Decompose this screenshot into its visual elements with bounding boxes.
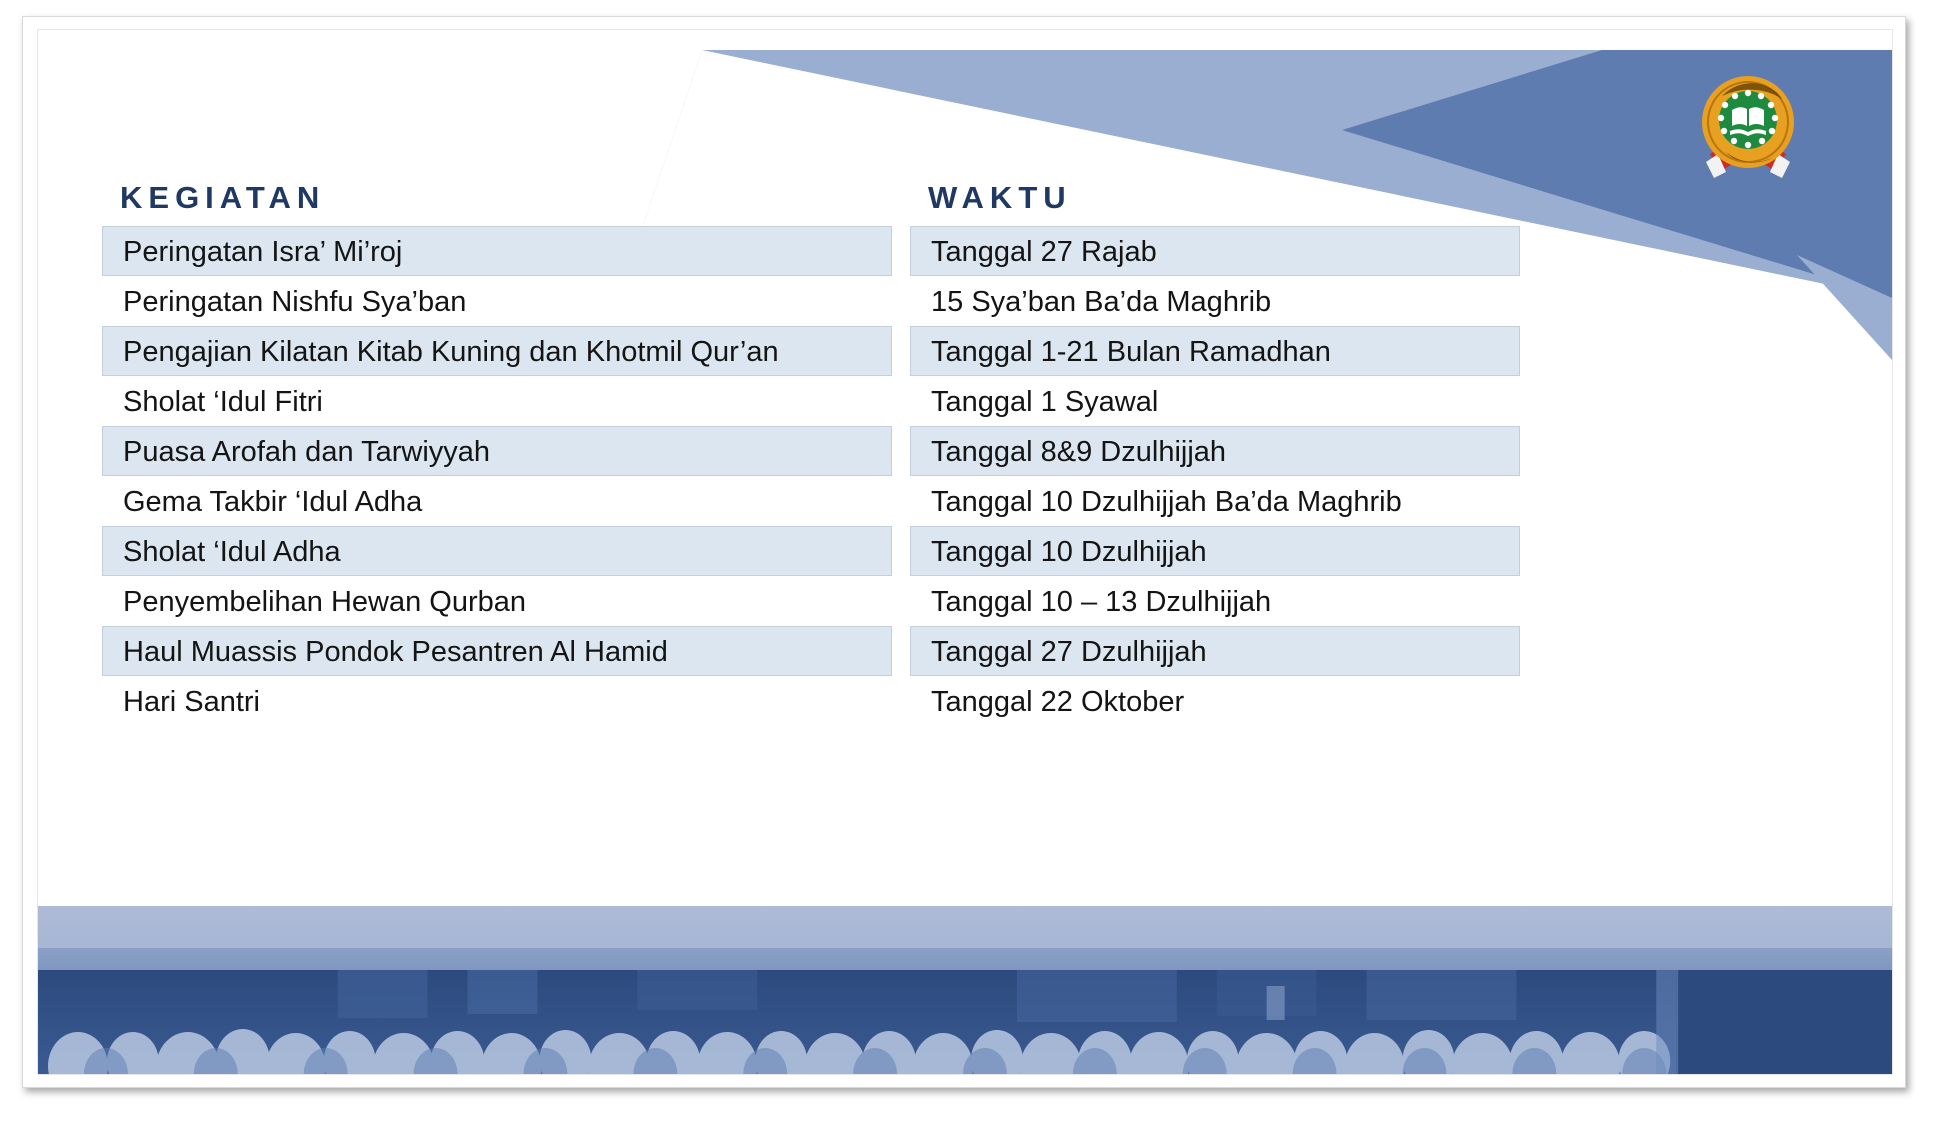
footer-banner bbox=[38, 906, 1892, 1074]
waktu-rows: Tanggal 27 Rajab15 Sya’ban Ba’da Maghrib… bbox=[910, 226, 1520, 726]
table-row: Pengajian Kilatan Kitab Kuning dan Khotm… bbox=[102, 326, 892, 376]
table-row: 15 Sya’ban Ba’da Maghrib bbox=[910, 276, 1520, 326]
footer-strip-light bbox=[38, 906, 1892, 948]
table-row: Tanggal 1-21 Bulan Ramadhan bbox=[910, 326, 1520, 376]
table-row: Tanggal 10 Dzulhijjah bbox=[910, 526, 1520, 576]
table-row: Tanggal 10 – 13 Dzulhijjah bbox=[910, 576, 1520, 626]
table-row: Tanggal 22 Oktober bbox=[910, 676, 1520, 726]
table-row: Sholat ‘Idul Fitri bbox=[102, 376, 892, 426]
table-row: Penyembelihan Hewan Qurban bbox=[102, 576, 892, 626]
table-row: Tanggal 10 Dzulhijjah Ba’da Maghrib bbox=[910, 476, 1520, 526]
table-row: Tanggal 27 Dzulhijjah bbox=[910, 626, 1520, 676]
column-header-waktu: WAKTU bbox=[910, 170, 1520, 226]
table-row: Peringatan Isra’ Mi’roj bbox=[102, 226, 892, 276]
kegiatan-rows: Peringatan Isra’ Mi’rojPeringatan Nishfu… bbox=[102, 226, 892, 726]
table-row: Puasa Arofah dan Tarwiyyah bbox=[102, 426, 892, 476]
table-row: Peringatan Nishfu Sya’ban bbox=[102, 276, 892, 326]
column-waktu: WAKTU Tanggal 27 Rajab15 Sya’ban Ba’da M… bbox=[910, 170, 1520, 726]
footer-strip-mid bbox=[38, 948, 1892, 970]
table-row: Tanggal 27 Rajab bbox=[910, 226, 1520, 276]
table-row: Tanggal 8&9 Dzulhijjah bbox=[910, 426, 1520, 476]
screenshot-root: KEGIATAN Peringatan Isra’ Mi’rojPeringat… bbox=[0, 0, 1947, 1125]
table-row: Sholat ‘Idul Adha bbox=[102, 526, 892, 576]
table-row: Gema Takbir ‘Idul Adha bbox=[102, 476, 892, 526]
slide-canvas: KEGIATAN Peringatan Isra’ Mi’rojPeringat… bbox=[37, 29, 1893, 1075]
table-row: Hari Santri bbox=[102, 676, 892, 726]
column-kegiatan: KEGIATAN Peringatan Isra’ Mi’rojPeringat… bbox=[102, 170, 892, 726]
table-row: Tanggal 1 Syawal bbox=[910, 376, 1520, 426]
logo-green-disc bbox=[1719, 91, 1777, 149]
column-header-kegiatan: KEGIATAN bbox=[102, 170, 892, 226]
table-row: Haul Muassis Pondok Pesantren Al Hamid bbox=[102, 626, 892, 676]
activity-schedule-table: KEGIATAN Peringatan Isra’ Mi’rojPeringat… bbox=[102, 170, 1842, 770]
santri-gathering-photo bbox=[38, 970, 1892, 1074]
slide-frame: KEGIATAN Peringatan Isra’ Mi’rojPeringat… bbox=[22, 16, 1906, 1088]
